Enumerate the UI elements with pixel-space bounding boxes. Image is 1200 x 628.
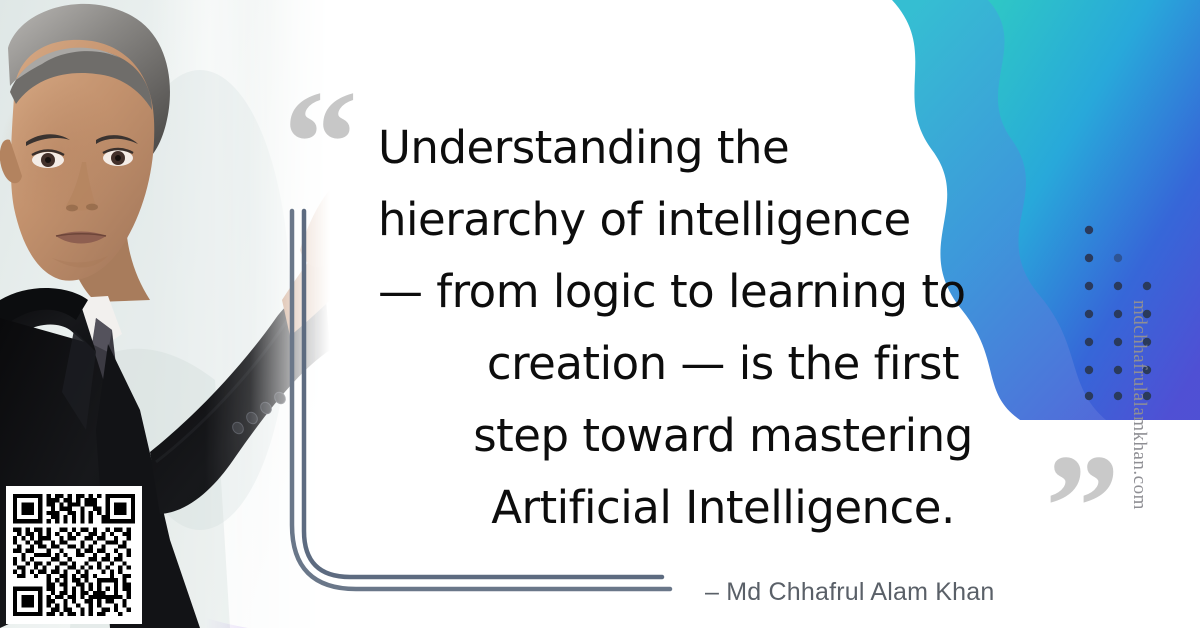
quote-line-2: hierarchy of intelligence — [378, 184, 1068, 256]
quote-line-5: step toward mastering — [378, 400, 1068, 472]
quote-card: “ ” Understanding the hierarchy of intel… — [0, 0, 1200, 628]
author-attribution: – Md Chhafrul Alam Khan — [705, 578, 994, 607]
quote-line-1: Understanding the — [378, 112, 1068, 184]
quote-line-6: Artificial Intelligence. — [378, 472, 1068, 544]
quote-line-4: creation — is the first — [378, 328, 1068, 400]
website-url[interactable]: mdchhafrulalamkhan.com — [1128, 300, 1150, 510]
qr-code[interactable] — [6, 486, 142, 624]
opening-quote-mark: “ — [283, 68, 360, 218]
quote-text: Understanding the hierarchy of intellige… — [378, 112, 1068, 544]
quote-line-3: — from logic to learning to — [378, 256, 1068, 328]
